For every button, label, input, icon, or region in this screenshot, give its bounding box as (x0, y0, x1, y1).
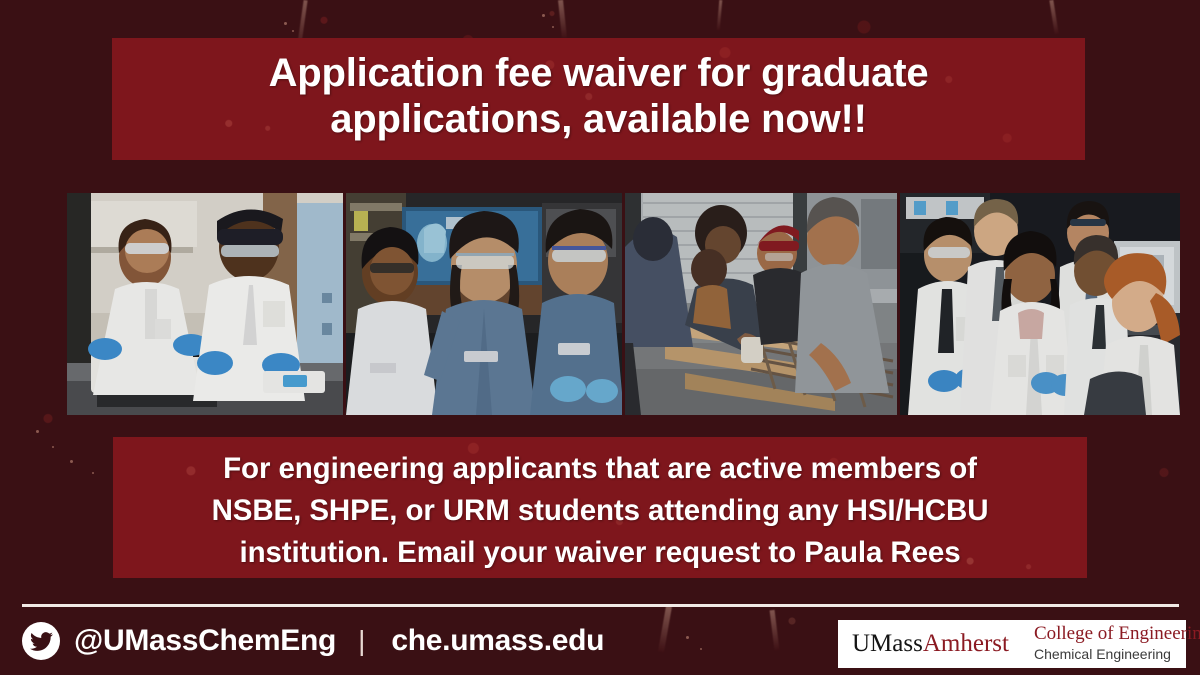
college-name: College of Engineering (1034, 624, 1200, 644)
headline-line-1: Application fee waiver for graduate (130, 50, 1067, 96)
photo-lab-students-white-coats (67, 193, 343, 415)
body-line-3: institution. Email your waiver request t… (127, 532, 1073, 574)
twitter-handle[interactable]: @UMassChemEng (74, 624, 336, 658)
body-banner: For engineering applicants that are acti… (113, 437, 1087, 578)
photo-structures-lab-rebar (625, 193, 897, 415)
texture-speck (70, 460, 73, 463)
texture-speck (542, 14, 545, 17)
amherst-word: Amherst (923, 630, 1009, 658)
footer-separator: | (350, 625, 377, 657)
headline-text: Application fee waiver for graduate appl… (112, 38, 1085, 142)
umass-word: UMass (852, 630, 923, 658)
paint-streak (1049, 0, 1058, 34)
body-text: For engineering applicants that are acti… (113, 437, 1087, 574)
texture-speck (36, 430, 39, 433)
photo-strip (67, 193, 1180, 415)
texture-speck (284, 22, 287, 25)
texture-speck (92, 472, 94, 474)
texture-speck (52, 446, 54, 448)
twitter-bird-icon[interactable] (22, 622, 60, 660)
umass-amherst-wordmark: UMassAmherst (838, 620, 1022, 668)
texture-speck (552, 26, 554, 28)
footer-social-group: @UMassChemEng | che.umass.edu (22, 622, 604, 660)
texture-speck (292, 30, 294, 32)
website-url[interactable]: che.umass.edu (391, 624, 604, 658)
body-line-2: NSBE, SHPE, or URM students attending an… (127, 490, 1073, 532)
headline-banner: Application fee waiver for graduate appl… (112, 38, 1085, 160)
department-name: Chemical Engineering (1034, 646, 1200, 664)
footer-divider-rule (22, 604, 1179, 607)
photo-research-group-white-coats (900, 193, 1180, 415)
college-lockup: College of Engineering Chemical Engineer… (1022, 620, 1200, 668)
umass-amherst-logo-lockup: UMassAmherst College of Engineering Chem… (838, 620, 1186, 668)
paint-streak (717, 0, 723, 30)
paint-streak (558, 0, 567, 38)
headline-line-2: applications, available now!! (130, 96, 1067, 142)
photo-three-students-blue-coats (346, 193, 622, 415)
body-line-1: For engineering applicants that are acti… (127, 448, 1073, 490)
